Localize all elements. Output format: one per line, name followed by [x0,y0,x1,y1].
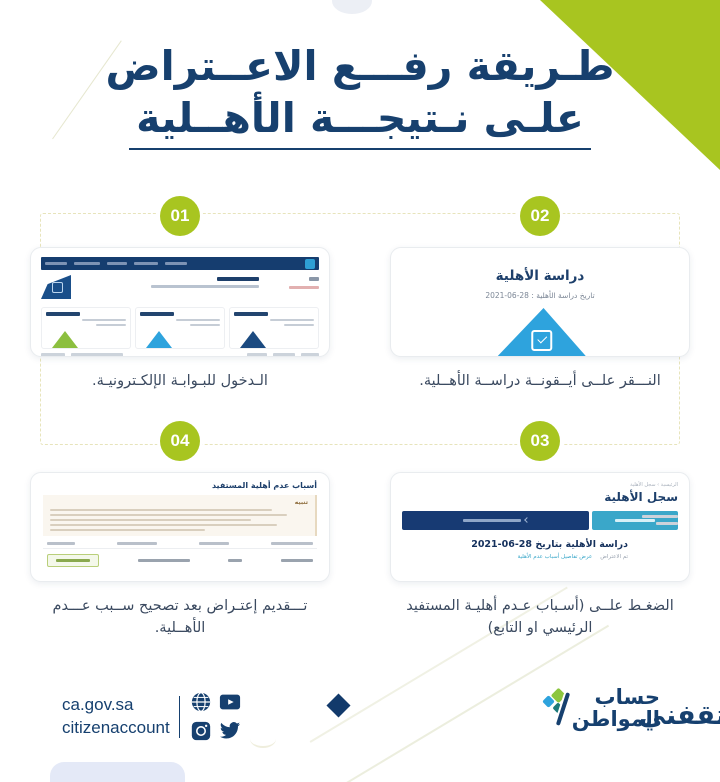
shield-icon [41,275,71,299]
footer-website[interactable]: ca.gov.sa [62,694,170,717]
table-cell [228,559,242,562]
step-card-03[interactable]: الرئيسية › سجل الأهلية سجل الأهلية دراسة… [390,472,690,582]
page-title: طـريقة رفـــع الاعــتراض علـى نـتيجـــة … [0,40,720,150]
portal-screenshot-mock [31,257,329,357]
table-header-cell [47,542,75,545]
step-card-04[interactable]: أسباب عدم أهلية المستفيد تنبيه [30,472,330,582]
footer-handle[interactable]: citizenaccount [62,717,170,740]
globe-icon[interactable] [189,690,213,714]
bubble-decoration-top [332,0,372,14]
portal-hero-text [77,275,259,288]
steps-row-2: 03 الرئيسية › سجل الأهلية سجل الأهلية در… [0,421,720,640]
nav-link [74,262,100,265]
step-caption-02: النـــقر علــى أيــقونــة دراســة الأهــ… [384,371,696,393]
record-row[interactable]: دراسة الأهلية بتاريخ 28-06-2021 تم الاعت… [402,539,678,560]
record-reasons-bar[interactable] [402,511,589,530]
youtube-icon[interactable] [218,690,242,714]
bubble-decoration-bottom [50,762,185,782]
footer-divider [179,696,181,738]
steps-container: 02 دراسة الأهلية تاريخ دراسة الأهلية : 2… [0,196,720,639]
reasons-note: تنبيه [43,495,317,536]
title-line-2: علـى نـتيجـــة الأهــلية [0,92,720,144]
step-card-02[interactable]: دراسة الأهلية تاريخ دراسة الأهلية : 28-0… [390,247,690,357]
title-line-1: طـريقة رفـــع الاعــتراض [0,40,720,92]
step-badge-04: 04 [160,421,200,461]
reasons-table-mock: أسباب عدم أهلية المستفيد تنبيه [31,473,329,581]
record-row-link[interactable]: عرض تفاصيل أسباب عدم الأهلية [518,554,593,560]
record-title: سجل الأهلية [402,490,678,504]
table-header-cell [199,542,229,545]
instagram-icon[interactable] [189,719,213,743]
portal-hero [41,275,319,303]
record-row-title: دراسة الأهلية بتاريخ 28-06-2021 [402,539,628,550]
title-underline [129,148,591,151]
table-header-cell [117,542,157,545]
step-badge-02: 02 [520,196,560,236]
portal-navbar [41,257,319,270]
step-caption-01: الـدخول للبـوابـة الإلكـترونيـة. [24,371,336,393]
reasons-table [43,542,317,567]
tile-triangle-icon [240,331,266,348]
step-card-01[interactable] [30,247,330,357]
record-side-labels [634,511,678,525]
steps-row-1: 02 دراسة الأهلية تاريخ دراسة الأهلية : 2… [0,196,720,393]
portal-tiles [41,307,319,349]
reasons-title: أسباب عدم أهلية المستفيد [43,481,317,490]
eligibility-tile-subtitle: تاريخ دراسة الأهلية : 28-06-2021 [485,291,594,300]
step-badge-03: 03 [520,421,560,461]
check-square-icon [498,308,586,356]
social-icon-grid [189,690,242,743]
eligibility-tile-mock: دراسة الأهلية تاريخ دراسة الأهلية : 28-0… [391,248,689,356]
step-02: 02 دراسة الأهلية تاريخ دراسة الأهلية : 2… [360,196,720,393]
nav-link [107,262,127,265]
nav-link [165,262,187,265]
nav-link [45,262,67,265]
portal-footer [41,353,319,357]
table-row [43,549,317,567]
record-row-status: تم الاعتراض [600,554,628,560]
step-03: 03 الرئيسية › سجل الأهلية سجل الأهلية در… [360,421,720,640]
record-breadcrumb: الرئيسية › سجل الأهلية [402,482,678,488]
portal-tile-request[interactable] [41,307,131,349]
twitter-icon[interactable] [218,719,242,743]
table-header-row [43,542,317,549]
portal-tile-eligibility[interactable] [135,307,225,349]
submit-objection-button[interactable] [47,554,99,567]
table-header-cell [271,542,313,545]
step-04: 04 أسباب عدم أهلية المستفيد تنبيه [0,421,360,640]
portal-hero-left [265,275,319,289]
tile-triangle-icon [146,331,172,348]
reasons-note-title: تنبيه [50,499,308,506]
table-cell [138,559,190,562]
step-badge-01: 01 [160,196,200,236]
nav-link [134,262,158,265]
eligibility-record-mock: الرئيسية › سجل الأهلية سجل الأهلية دراسة… [391,473,689,581]
tile-triangle-icon [52,331,78,348]
table-cell [281,559,313,562]
social-links: ca.gov.sa citizenaccount [62,690,242,743]
step-caption-03: الضغـط علــى (أسـباب عـدم أهليـة المستفي… [384,596,696,640]
eligibility-tile-title: دراسة الأهلية [496,268,585,284]
watermark-text: ثقفني [639,700,720,731]
record-row-meta: تم الاعتراض عرض تفاصيل أسباب عدم الأهلية [402,554,628,560]
infographic-page: طـريقة رفـــع الاعــتراض علـى نـتيجـــة … [0,0,720,782]
brand-logo-mark-icon [530,688,566,728]
step-01: 01 [0,196,360,393]
footer-urls: ca.gov.sa citizenaccount [62,694,170,740]
portal-logo-icon [305,259,315,269]
step-caption-04: تـــقديم إعتـراض بعد تصحيح ســبب عـــدم … [24,596,336,640]
portal-tile-beneficiary[interactable] [229,307,319,349]
footer: ca.gov.sa citizenaccount حساب المواطن ثق… [0,686,720,756]
